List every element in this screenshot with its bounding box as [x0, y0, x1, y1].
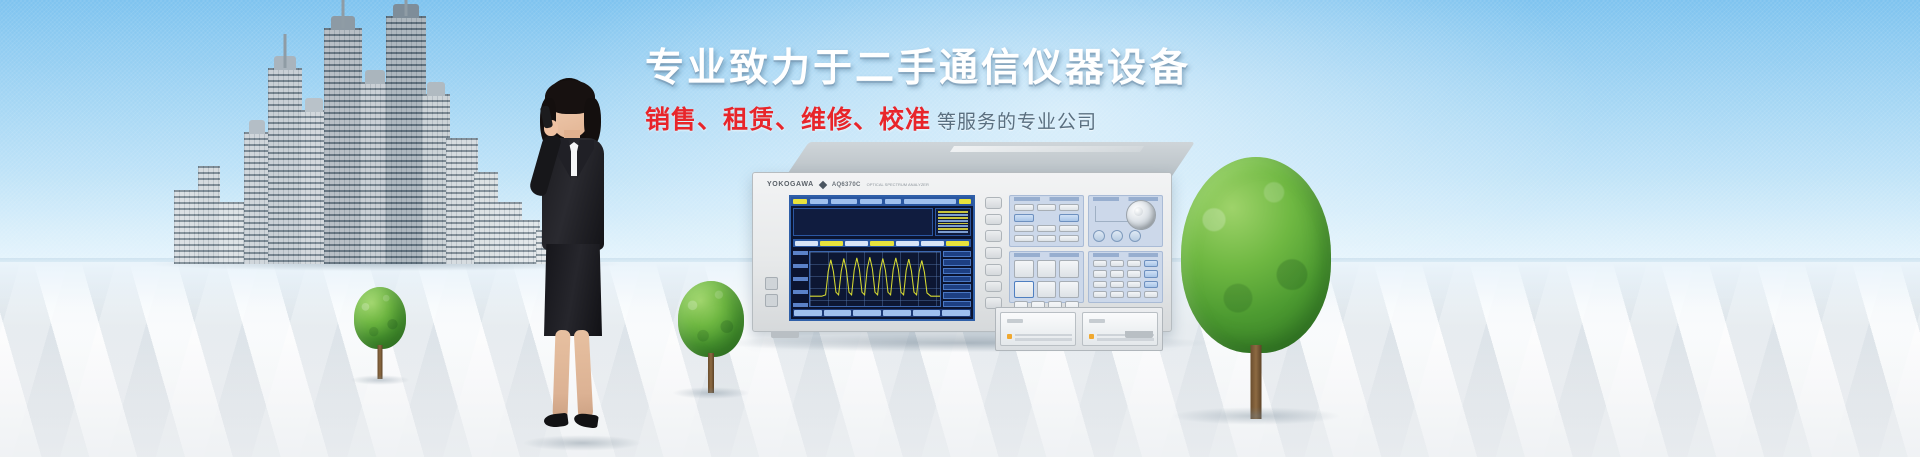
businesswoman-on-phone: [514, 72, 644, 447]
key-unit-3[interactable]: [1144, 281, 1158, 288]
foot-right: [1125, 331, 1153, 338]
banner-subtitle-tail: 等服务的专业公司: [937, 107, 1097, 134]
screen-readout: [935, 208, 971, 236]
tree-shadow: [350, 375, 410, 385]
spectrum-grid: [809, 251, 941, 307]
instrument-feet: [761, 331, 1163, 338]
control-panel[interactable]: [1009, 195, 1163, 303]
knob-connector: [1095, 206, 1129, 222]
floor-fade-bottom: [0, 337, 1920, 457]
key-analysis[interactable]: [1014, 281, 1034, 299]
promo-banner: 专业致力于二手通信仪器设备 销售、租赁、维修、校准 等服务的专业公司 YOKOG…: [0, 0, 1920, 457]
banner-subline: 销售、租赁、维修、校准 等服务的专业公司: [645, 100, 1265, 136]
key-1[interactable]: [1093, 281, 1107, 288]
keypad-block-title: [1093, 253, 1158, 257]
knob-block-title: [1093, 197, 1158, 201]
key-peak-search[interactable]: [1037, 235, 1057, 242]
instrument-screen[interactable]: [789, 195, 975, 321]
key-0[interactable]: [1093, 291, 1107, 298]
tree-shadow: [672, 387, 750, 399]
screen-menu-bar[interactable]: [793, 239, 971, 247]
key-7[interactable]: [1093, 260, 1107, 267]
instrument-front-panel: YOKOGAWA AQ6370C OPTICAL SPECTRUM ANALYZ…: [752, 172, 1172, 332]
key-span[interactable]: [1037, 204, 1057, 211]
key-5[interactable]: [1110, 270, 1124, 277]
key-9[interactable]: [1127, 260, 1141, 267]
bezel-key-4[interactable]: [985, 247, 1002, 259]
key-marker[interactable]: [1037, 260, 1057, 278]
measurement-block-title: [1014, 197, 1079, 201]
bezel-key-5[interactable]: [985, 264, 1002, 276]
tree-crown: [1181, 157, 1331, 353]
tree-large-right: [1178, 157, 1334, 419]
numeric-keypad[interactable]: [1093, 260, 1158, 298]
down-arrow-button[interactable]: [1111, 230, 1123, 242]
banner-headline: 专业致力于二手通信仪器设备: [645, 48, 1265, 89]
key-field[interactable]: [1059, 225, 1079, 232]
key-file[interactable]: [1059, 260, 1079, 278]
bezel-key-3[interactable]: [985, 230, 1002, 242]
bezel-key-1[interactable]: [985, 197, 1002, 209]
tree-small-mid: [676, 281, 746, 393]
key-unit-2[interactable]: [1144, 270, 1158, 277]
key-8[interactable]: [1110, 260, 1124, 267]
bezel-key-2[interactable]: [985, 214, 1002, 226]
key-6[interactable]: [1127, 270, 1141, 277]
usb-ports[interactable]: [765, 277, 778, 309]
measurement-key-grid[interactable]: [1014, 204, 1079, 242]
screen-y-axis: [793, 251, 808, 307]
key-level[interactable]: [1059, 204, 1079, 211]
model-label: AQ6370C: [832, 182, 861, 188]
leg-right: [574, 330, 594, 419]
key-3[interactable]: [1127, 281, 1141, 288]
usb-memory-drive[interactable]: [1082, 312, 1158, 346]
banner-subtitle-highlight: 销售、租赁、维修、校准: [645, 100, 931, 136]
tree-shadow: [1171, 407, 1341, 425]
key-trace[interactable]: [1014, 235, 1034, 242]
banner-copy: 专业致力于二手通信仪器设备 销售、租赁、维修、校准 等服务的专业公司: [645, 48, 1265, 136]
key-enter[interactable]: [1144, 291, 1158, 298]
key-system[interactable]: [1059, 281, 1079, 299]
up-arrow-button[interactable]: [1129, 230, 1141, 242]
screen-info-panel: [793, 208, 933, 236]
brand-label: YOKOGAWA: [767, 181, 814, 188]
usb-port-2[interactable]: [765, 294, 778, 307]
floppy-drive[interactable]: [1000, 312, 1076, 346]
foot-left: [771, 331, 799, 338]
knob-block[interactable]: [1088, 195, 1163, 247]
woman-shadow: [522, 435, 642, 451]
skirt: [544, 244, 602, 336]
optical-spectrum-analyzer: YOKOGAWA AQ6370C OPTICAL SPECTRUM ANALYZ…: [752, 142, 1172, 342]
key-next[interactable]: [1059, 235, 1079, 242]
tree-crown: [678, 281, 744, 357]
shoe-right: [573, 412, 599, 428]
screen-status-bar: [793, 309, 971, 317]
drive-bay[interactable]: [995, 307, 1163, 351]
numeric-keypad-block[interactable]: [1088, 251, 1163, 303]
key-2[interactable]: [1110, 281, 1124, 288]
system-key-grid[interactable]: [1014, 260, 1079, 298]
key-center[interactable]: [1014, 204, 1034, 211]
brand-diamond-icon: [819, 180, 827, 188]
model-subtitle: OPTICAL SPECTRUM ANALYZER: [867, 182, 929, 187]
key-print[interactable]: [1037, 281, 1057, 299]
shoe-left: [543, 413, 568, 429]
key-4[interactable]: [1093, 270, 1107, 277]
tree-small-left: [352, 287, 408, 379]
key-unit-1[interactable]: [1144, 260, 1158, 267]
screen-title-bar: [791, 197, 973, 206]
instrument-top-sheen: [950, 146, 1144, 152]
key-sign[interactable]: [1127, 291, 1141, 298]
key-single[interactable]: [1014, 214, 1034, 221]
key-repeat[interactable]: [1059, 214, 1079, 221]
bezel-key-6[interactable]: [985, 281, 1002, 293]
leg-left: [552, 330, 570, 418]
tree-crown: [354, 287, 406, 349]
system-block-title: [1014, 253, 1079, 257]
instrument-brand-bar: YOKOGAWA AQ6370C OPTICAL SPECTRUM ANALYZ…: [763, 178, 1161, 191]
key-scale[interactable]: [1037, 225, 1057, 232]
rotary-knob[interactable]: [1126, 200, 1156, 230]
system-key-block[interactable]: [1009, 251, 1084, 303]
tree-trunk: [378, 345, 383, 379]
measurement-key-block[interactable]: [1009, 195, 1084, 247]
key-stop[interactable]: [1014, 225, 1034, 232]
key-decimal[interactable]: [1110, 291, 1124, 298]
spectrum-trace: [810, 252, 940, 304]
minus-button[interactable]: [1093, 230, 1105, 242]
key-setup[interactable]: [1014, 260, 1034, 278]
screen-soft-keys[interactable]: [943, 251, 971, 315]
usb-port-1[interactable]: [765, 277, 778, 290]
